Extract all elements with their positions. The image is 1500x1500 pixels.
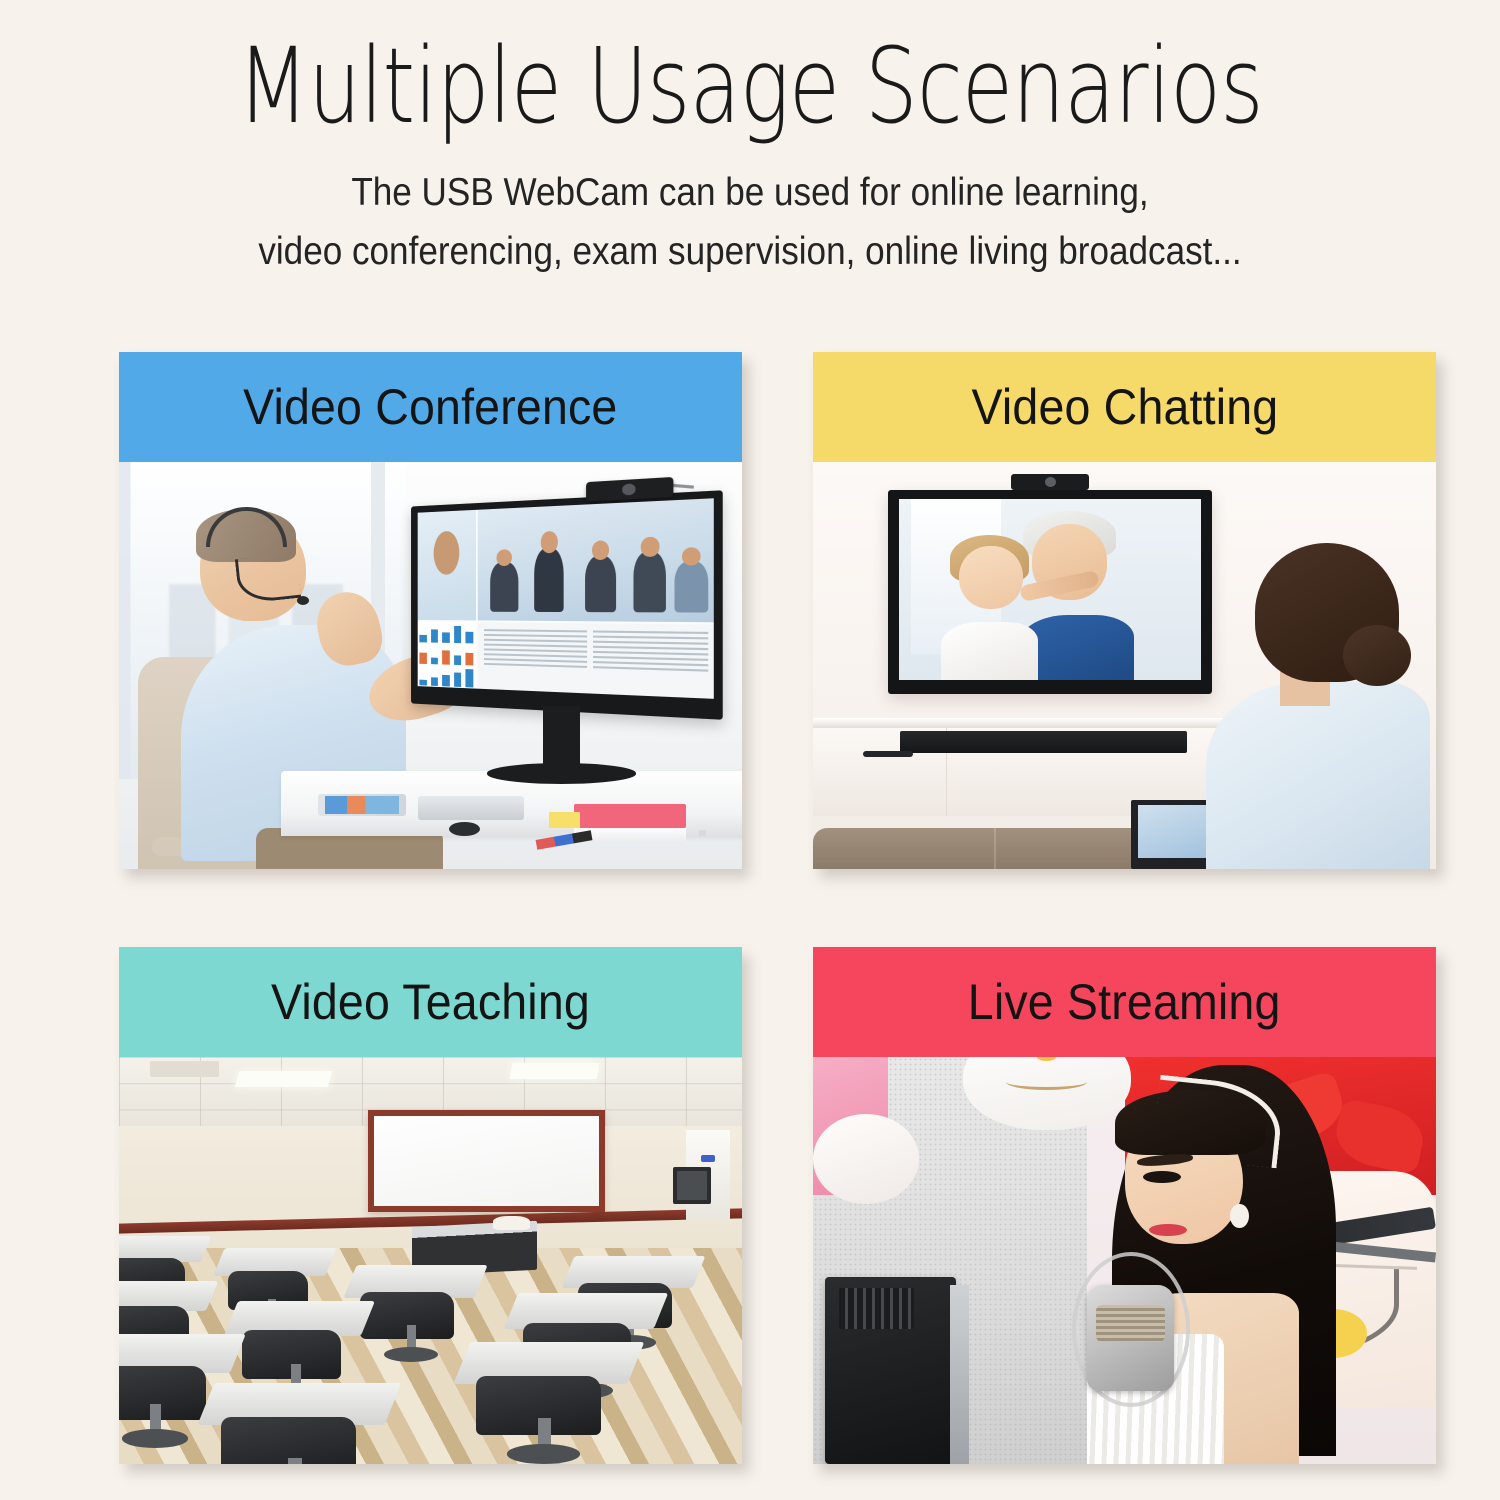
card-header-video-chatting: Video Chatting xyxy=(813,352,1436,462)
meeting-participant xyxy=(534,547,564,612)
video-tile-meeting-room xyxy=(478,498,715,622)
tablet-device xyxy=(318,794,405,816)
microphone-icon xyxy=(297,596,309,605)
phone-holder-rig xyxy=(825,1277,956,1464)
card-label-video-teaching: Video Teaching xyxy=(271,973,590,1031)
ceiling-light xyxy=(510,1063,600,1079)
ceiling-projector xyxy=(150,1061,219,1077)
microphone-grille xyxy=(1096,1305,1165,1342)
screen-charts-panel xyxy=(418,622,476,690)
card-photo-video-chatting xyxy=(813,462,1436,869)
scenario-card-video-conference[interactable]: Video Conference xyxy=(119,352,742,869)
scenario-card-video-chatting[interactable]: Video Chatting xyxy=(813,352,1436,869)
soundbar-speaker xyxy=(900,731,1187,753)
desk-chair xyxy=(206,1383,393,1464)
whiteboard-surface xyxy=(374,1116,599,1206)
tv-screen xyxy=(899,499,1201,680)
card-label-video-conference: Video Conference xyxy=(243,378,617,436)
area-chart xyxy=(420,667,473,687)
monitor-stand-base xyxy=(487,763,637,783)
card-photo-video-teaching xyxy=(119,1057,742,1464)
bar-chart xyxy=(420,646,473,665)
scenario-card-live-streaming[interactable]: Live Streaming xyxy=(813,947,1436,1464)
page-title: Multiple Usage Scenarios xyxy=(150,0,1350,138)
meeting-participant xyxy=(585,555,616,612)
ceiling-light xyxy=(235,1071,333,1087)
meeting-participant xyxy=(490,562,518,612)
subtitle-line-1: The USB WebCam can be used for online le… xyxy=(75,164,1425,223)
wall-mounted-monitor xyxy=(673,1167,710,1204)
meeting-participant xyxy=(674,560,708,612)
desk-chair xyxy=(462,1342,636,1464)
page-subtitle: The USB WebCam can be used for online le… xyxy=(75,164,1425,281)
monitor-screen xyxy=(418,498,715,698)
sticky-notes xyxy=(549,812,580,828)
video-tile-participant xyxy=(418,510,476,620)
card-label-video-chatting: Video Chatting xyxy=(971,378,1278,436)
meeting-participant xyxy=(634,551,667,612)
text-column xyxy=(484,629,587,687)
child-body xyxy=(941,622,1038,680)
scenario-card-video-teaching[interactable]: Video Teaching xyxy=(119,947,742,1464)
eye xyxy=(1143,1171,1180,1183)
desktop-monitor xyxy=(411,490,723,719)
notebook-stack xyxy=(574,804,686,828)
tv-remote xyxy=(863,751,913,758)
pearl-earring xyxy=(1230,1204,1249,1228)
card-photo-video-conference xyxy=(119,462,742,869)
card-label-live-streaming: Live Streaming xyxy=(968,973,1281,1031)
viewer-hair-bun xyxy=(1343,625,1412,686)
wall-mounted-tv xyxy=(888,490,1212,694)
card-header-video-conference: Video Conference xyxy=(119,352,742,462)
wall-shelf xyxy=(813,718,1286,726)
header-block: Multiple Usage Scenarios The USB WebCam … xyxy=(0,0,1500,281)
promo-page: Multiple Usage Scenarios The USB WebCam … xyxy=(0,0,1500,1500)
scenario-card-grid: Video Conference xyxy=(119,352,1436,1464)
keyboard-device xyxy=(418,796,524,820)
subtitle-line-2: video conferencing, exam supervision, on… xyxy=(75,223,1425,282)
screen-text-panel xyxy=(478,622,715,698)
usb-webcam-icon xyxy=(587,477,674,501)
white-plush-toy xyxy=(813,1114,919,1204)
card-header-live-streaming: Live Streaming xyxy=(813,947,1436,1057)
child-face xyxy=(959,546,1022,609)
phone-edge xyxy=(950,1285,969,1464)
usb-webcam-icon xyxy=(1011,474,1089,490)
text-column xyxy=(593,630,708,692)
card-header-video-teaching: Video Teaching xyxy=(119,947,742,1057)
viewer-body xyxy=(1206,682,1430,869)
monitor-stand-neck xyxy=(543,706,580,771)
desk-leg xyxy=(699,830,706,837)
card-photo-live-streaming xyxy=(813,1057,1436,1464)
plush-smile xyxy=(1006,1073,1087,1089)
lips xyxy=(1149,1224,1186,1236)
bar-chart xyxy=(420,624,473,643)
desk-object xyxy=(493,1216,530,1230)
whiteboard xyxy=(368,1110,605,1212)
